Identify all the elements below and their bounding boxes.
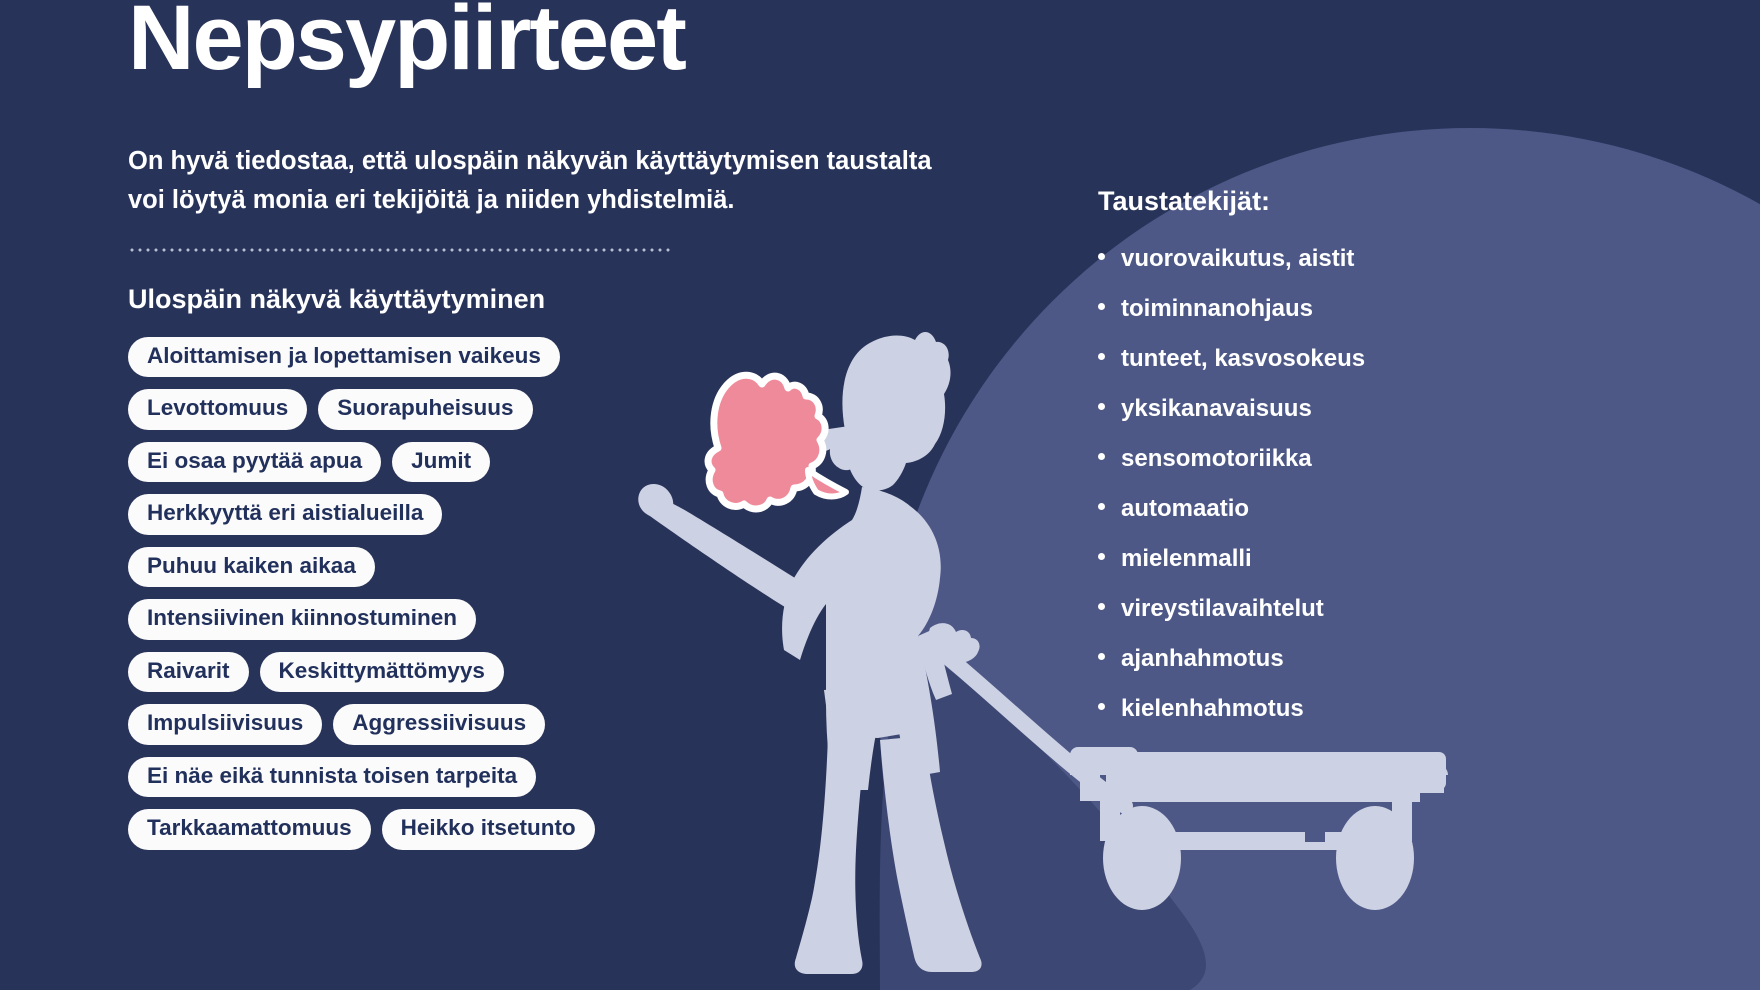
page-title: Nepsypiirteet <box>128 0 858 84</box>
list-item: mielenmalli <box>1098 545 1568 573</box>
section-heading-behaviour: Ulospäin näkyvä käyttäytyminen <box>128 284 858 315</box>
background-factors-list: vuorovaikutus, aistit toiminnanohjaus tu… <box>1098 245 1568 723</box>
behaviour-pill[interactable]: Intensiivinen kiinnostuminen <box>128 599 476 640</box>
bullet-dot-icon <box>1098 503 1105 510</box>
list-item-label: automaatio <box>1121 495 1249 523</box>
pill-row: Puhuu kaiken aikaa <box>128 547 858 588</box>
list-item: yksikanavaisuus <box>1098 395 1568 423</box>
behaviour-pill[interactable]: Ei näe eikä tunnista toisen tarpeita <box>128 757 536 798</box>
behaviour-pill[interactable]: Impulsiivisuus <box>128 704 322 745</box>
list-item: automaatio <box>1098 495 1568 523</box>
behaviour-pill[interactable]: Aggressiivisuus <box>333 704 545 745</box>
pill-row: Tarkkaamattomuus Heikko itsetunto <box>128 809 858 850</box>
list-item-label: mielenmalli <box>1121 545 1252 573</box>
behaviour-pill-list: Aloittamisen ja lopettamisen vaikeus Lev… <box>128 337 858 850</box>
behaviour-pill[interactable]: Herkkyyttä eri aistialueilla <box>128 494 442 535</box>
bullet-dot-icon <box>1098 303 1105 310</box>
left-column: Nepsypiirteet On hyvä tiedostaa, että ul… <box>128 0 858 862</box>
bullet-dot-icon <box>1098 603 1105 610</box>
pill-row: Raivarit Keskittymättömyys <box>128 652 858 693</box>
infographic-canvas: Nepsypiirteet On hyvä tiedostaa, että ul… <box>0 0 1760 990</box>
pill-row: Aloittamisen ja lopettamisen vaikeus <box>128 337 858 378</box>
page-subtitle: On hyvä tiedostaa, että ulospäin näkyvän… <box>128 142 958 220</box>
list-item: sensomotoriikka <box>1098 445 1568 473</box>
list-item-label: vuorovaikutus, aistit <box>1121 245 1354 273</box>
bullet-dot-icon <box>1098 453 1105 460</box>
list-item: toiminnanohjaus <box>1098 295 1568 323</box>
list-item-label: sensomotoriikka <box>1121 445 1312 473</box>
bullet-dot-icon <box>1098 403 1105 410</box>
pill-row: Intensiivinen kiinnostuminen <box>128 599 858 640</box>
behaviour-pill[interactable]: Heikko itsetunto <box>382 809 595 850</box>
list-item-label: kielenhahmotus <box>1121 695 1304 723</box>
list-item-label: ajanhahmotus <box>1121 645 1284 673</box>
list-item-label: toiminnanohjaus <box>1121 295 1313 323</box>
list-item-label: vireystilavaihtelut <box>1121 595 1324 623</box>
pill-row: Ei näe eikä tunnista toisen tarpeita <box>128 757 858 798</box>
list-item: tunteet, kasvosokeus <box>1098 345 1568 373</box>
behaviour-pill[interactable]: Raivarit <box>128 652 249 693</box>
pill-row: Impulsiivisuus Aggressiivisuus <box>128 704 858 745</box>
right-column: Taustatekijät: vuorovaikutus, aistit toi… <box>1098 186 1568 745</box>
bullet-dot-icon <box>1098 253 1105 260</box>
behaviour-pill[interactable]: Jumit <box>392 442 490 483</box>
section-heading-background-factors: Taustatekijät: <box>1098 186 1568 217</box>
bullet-dot-icon <box>1098 553 1105 560</box>
bullet-dot-icon <box>1098 353 1105 360</box>
pill-row: Levottomuus Suorapuheisuus <box>128 389 858 430</box>
list-item: ajanhahmotus <box>1098 645 1568 673</box>
behaviour-pill[interactable]: Suorapuheisuus <box>318 389 532 430</box>
list-item: vuorovaikutus, aistit <box>1098 245 1568 273</box>
list-item: kielenhahmotus <box>1098 695 1568 723</box>
bullet-dot-icon <box>1098 703 1105 710</box>
list-item: vireystilavaihtelut <box>1098 595 1568 623</box>
behaviour-pill[interactable]: Keskittymättömyys <box>260 652 504 693</box>
bullet-dot-icon <box>1098 653 1105 660</box>
pill-row: Ei osaa pyytää apua Jumit <box>128 442 858 483</box>
pill-row: Herkkyyttä eri aistialueilla <box>128 494 858 535</box>
behaviour-pill[interactable]: Levottomuus <box>128 389 307 430</box>
behaviour-pill[interactable]: Ei osaa pyytää apua <box>128 442 381 483</box>
behaviour-pill[interactable]: Puhuu kaiken aikaa <box>128 547 375 588</box>
list-item-label: tunteet, kasvosokeus <box>1121 345 1365 373</box>
behaviour-pill[interactable]: Aloittamisen ja lopettamisen vaikeus <box>128 337 560 378</box>
list-item-label: yksikanavaisuus <box>1121 395 1312 423</box>
behaviour-pill[interactable]: Tarkkaamattomuus <box>128 809 371 850</box>
dotted-divider <box>128 248 673 252</box>
